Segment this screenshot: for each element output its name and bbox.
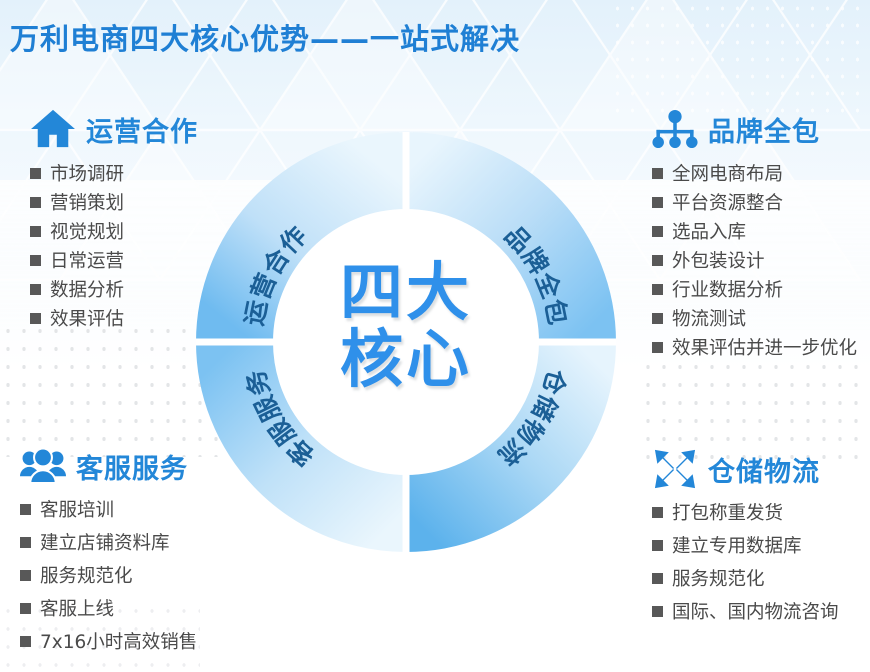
- four-arrows-icon: [652, 448, 698, 490]
- bullet-icon: [30, 313, 41, 324]
- list-item: 平台资源整合: [652, 189, 857, 218]
- list-item: 7x16小时高效销售: [20, 627, 197, 660]
- list-item: 建立店铺资料库: [20, 528, 197, 561]
- list-item-label: 平台资源整合: [672, 189, 783, 218]
- operations-list: 市场调研 营销策划 视觉规划 日常运营 数据分析 效果评估: [30, 160, 198, 334]
- quadrant-customer-service: 客服服务 客服培训 建立店铺资料库 服务规范化 客服上线 7x16小时高效销售: [20, 445, 197, 660]
- list-item-label: 视觉规划: [50, 218, 124, 247]
- list-item: 效果评估并进一步优化: [652, 334, 857, 363]
- brand-header: 品牌全包: [652, 108, 857, 150]
- list-item-label: 国际、国内物流咨询: [672, 597, 839, 630]
- list-item-label: 数据分析: [50, 276, 124, 305]
- list-item-label: 营销策划: [50, 189, 124, 218]
- list-item: 客服上线: [20, 594, 197, 627]
- customer-service-header: 客服服务: [20, 445, 197, 487]
- list-item-label: 全网电商布局: [672, 160, 783, 189]
- list-item: 全网电商布局: [652, 160, 857, 189]
- bullet-icon: [652, 313, 663, 324]
- bullet-icon: [20, 636, 31, 647]
- page-title: 万利电商四大核心优势——一站式解决: [10, 16, 520, 58]
- quadrant-logistics: 仓储物流 打包称重发货 建立专用数据库 服务规范化 国际、国内物流咨询: [652, 448, 839, 630]
- list-item-label: 效果评估并进一步优化: [672, 334, 857, 363]
- bullet-icon: [652, 573, 663, 584]
- list-item: 营销策划: [30, 189, 198, 218]
- list-item: 市场调研: [30, 160, 198, 189]
- list-item: 服务规范化: [20, 561, 197, 594]
- logistics-title: 仓储物流: [708, 450, 820, 489]
- background-dot-grid-topright: [610, 0, 870, 120]
- core-ring-diagram: 运营合作 品牌全包 客服服务 仓储物流 四大 核心: [196, 132, 616, 552]
- list-item: 选品入库: [652, 218, 857, 247]
- infographic-page: 万利电商四大核心优势——一站式解决: [0, 0, 870, 672]
- bullet-icon: [652, 226, 663, 237]
- bullet-icon: [30, 226, 41, 237]
- list-item-label: 外包装设计: [672, 247, 765, 276]
- bullet-icon: [652, 168, 663, 179]
- quadrant-brand: 品牌全包 全网电商布局 平台资源整合 选品入库 外包装设计 行业数据分析 物流测…: [652, 108, 857, 363]
- logistics-header: 仓储物流: [652, 448, 839, 490]
- org-chart-icon: [652, 108, 698, 150]
- operations-header: 运营合作: [30, 108, 198, 150]
- logistics-list: 打包称重发货 建立专用数据库 服务规范化 国际、国内物流咨询: [652, 498, 839, 630]
- bullet-icon: [30, 197, 41, 208]
- customer-service-list: 客服培训 建立店铺资料库 服务规范化 客服上线 7x16小时高效销售: [20, 495, 197, 660]
- list-item-label: 效果评估: [50, 305, 124, 334]
- people-group-icon: [20, 445, 66, 487]
- list-item-label: 选品入库: [672, 218, 746, 247]
- operations-title: 运营合作: [86, 110, 198, 149]
- list-item: 建立专用数据库: [652, 531, 839, 564]
- list-item-label: 建立店铺资料库: [40, 528, 170, 561]
- bullet-icon: [30, 168, 41, 179]
- bullet-icon: [652, 284, 663, 295]
- bullet-icon: [652, 606, 663, 617]
- list-item: 服务规范化: [652, 564, 839, 597]
- list-item-label: 服务规范化: [672, 564, 765, 597]
- brand-title: 品牌全包: [708, 110, 820, 149]
- home-icon: [30, 108, 76, 150]
- bullet-icon: [652, 197, 663, 208]
- list-item: 客服培训: [20, 495, 197, 528]
- list-item: 效果评估: [30, 305, 198, 334]
- bullet-icon: [20, 570, 31, 581]
- list-item: 国际、国内物流咨询: [652, 597, 839, 630]
- bullet-icon: [20, 504, 31, 515]
- list-item: 行业数据分析: [652, 276, 857, 305]
- list-item-label: 7x16小时高效销售: [40, 627, 197, 660]
- list-item-label: 市场调研: [50, 160, 124, 189]
- bullet-icon: [20, 537, 31, 548]
- ring-svg: 运营合作 品牌全包 客服服务 仓储物流: [196, 132, 616, 552]
- list-item-label: 物流测试: [672, 305, 746, 334]
- bullet-icon: [652, 255, 663, 266]
- bullet-icon: [652, 342, 663, 353]
- list-item: 数据分析: [30, 276, 198, 305]
- bullet-icon: [652, 540, 663, 551]
- list-item: 物流测试: [652, 305, 857, 334]
- bullet-icon: [652, 507, 663, 518]
- list-item: 视觉规划: [30, 218, 198, 247]
- list-item-label: 行业数据分析: [672, 276, 783, 305]
- list-item-label: 服务规范化: [40, 561, 133, 594]
- list-item-label: 打包称重发货: [672, 498, 783, 531]
- list-item-label: 日常运营: [50, 247, 124, 276]
- quadrant-operations: 运营合作 市场调研 营销策划 视觉规划 日常运营 数据分析 效果评估: [30, 108, 198, 334]
- list-item-label: 建立专用数据库: [672, 531, 802, 564]
- list-item: 日常运营: [30, 247, 198, 276]
- list-item: 外包装设计: [652, 247, 857, 276]
- bullet-icon: [30, 255, 41, 266]
- brand-list: 全网电商布局 平台资源整合 选品入库 外包装设计 行业数据分析 物流测试 效果评…: [652, 160, 857, 363]
- list-item-label: 客服培训: [40, 495, 114, 528]
- list-item: 打包称重发货: [652, 498, 839, 531]
- customer-service-title: 客服服务: [76, 447, 188, 486]
- bullet-icon: [30, 284, 41, 295]
- bullet-icon: [20, 603, 31, 614]
- list-item-label: 客服上线: [40, 594, 114, 627]
